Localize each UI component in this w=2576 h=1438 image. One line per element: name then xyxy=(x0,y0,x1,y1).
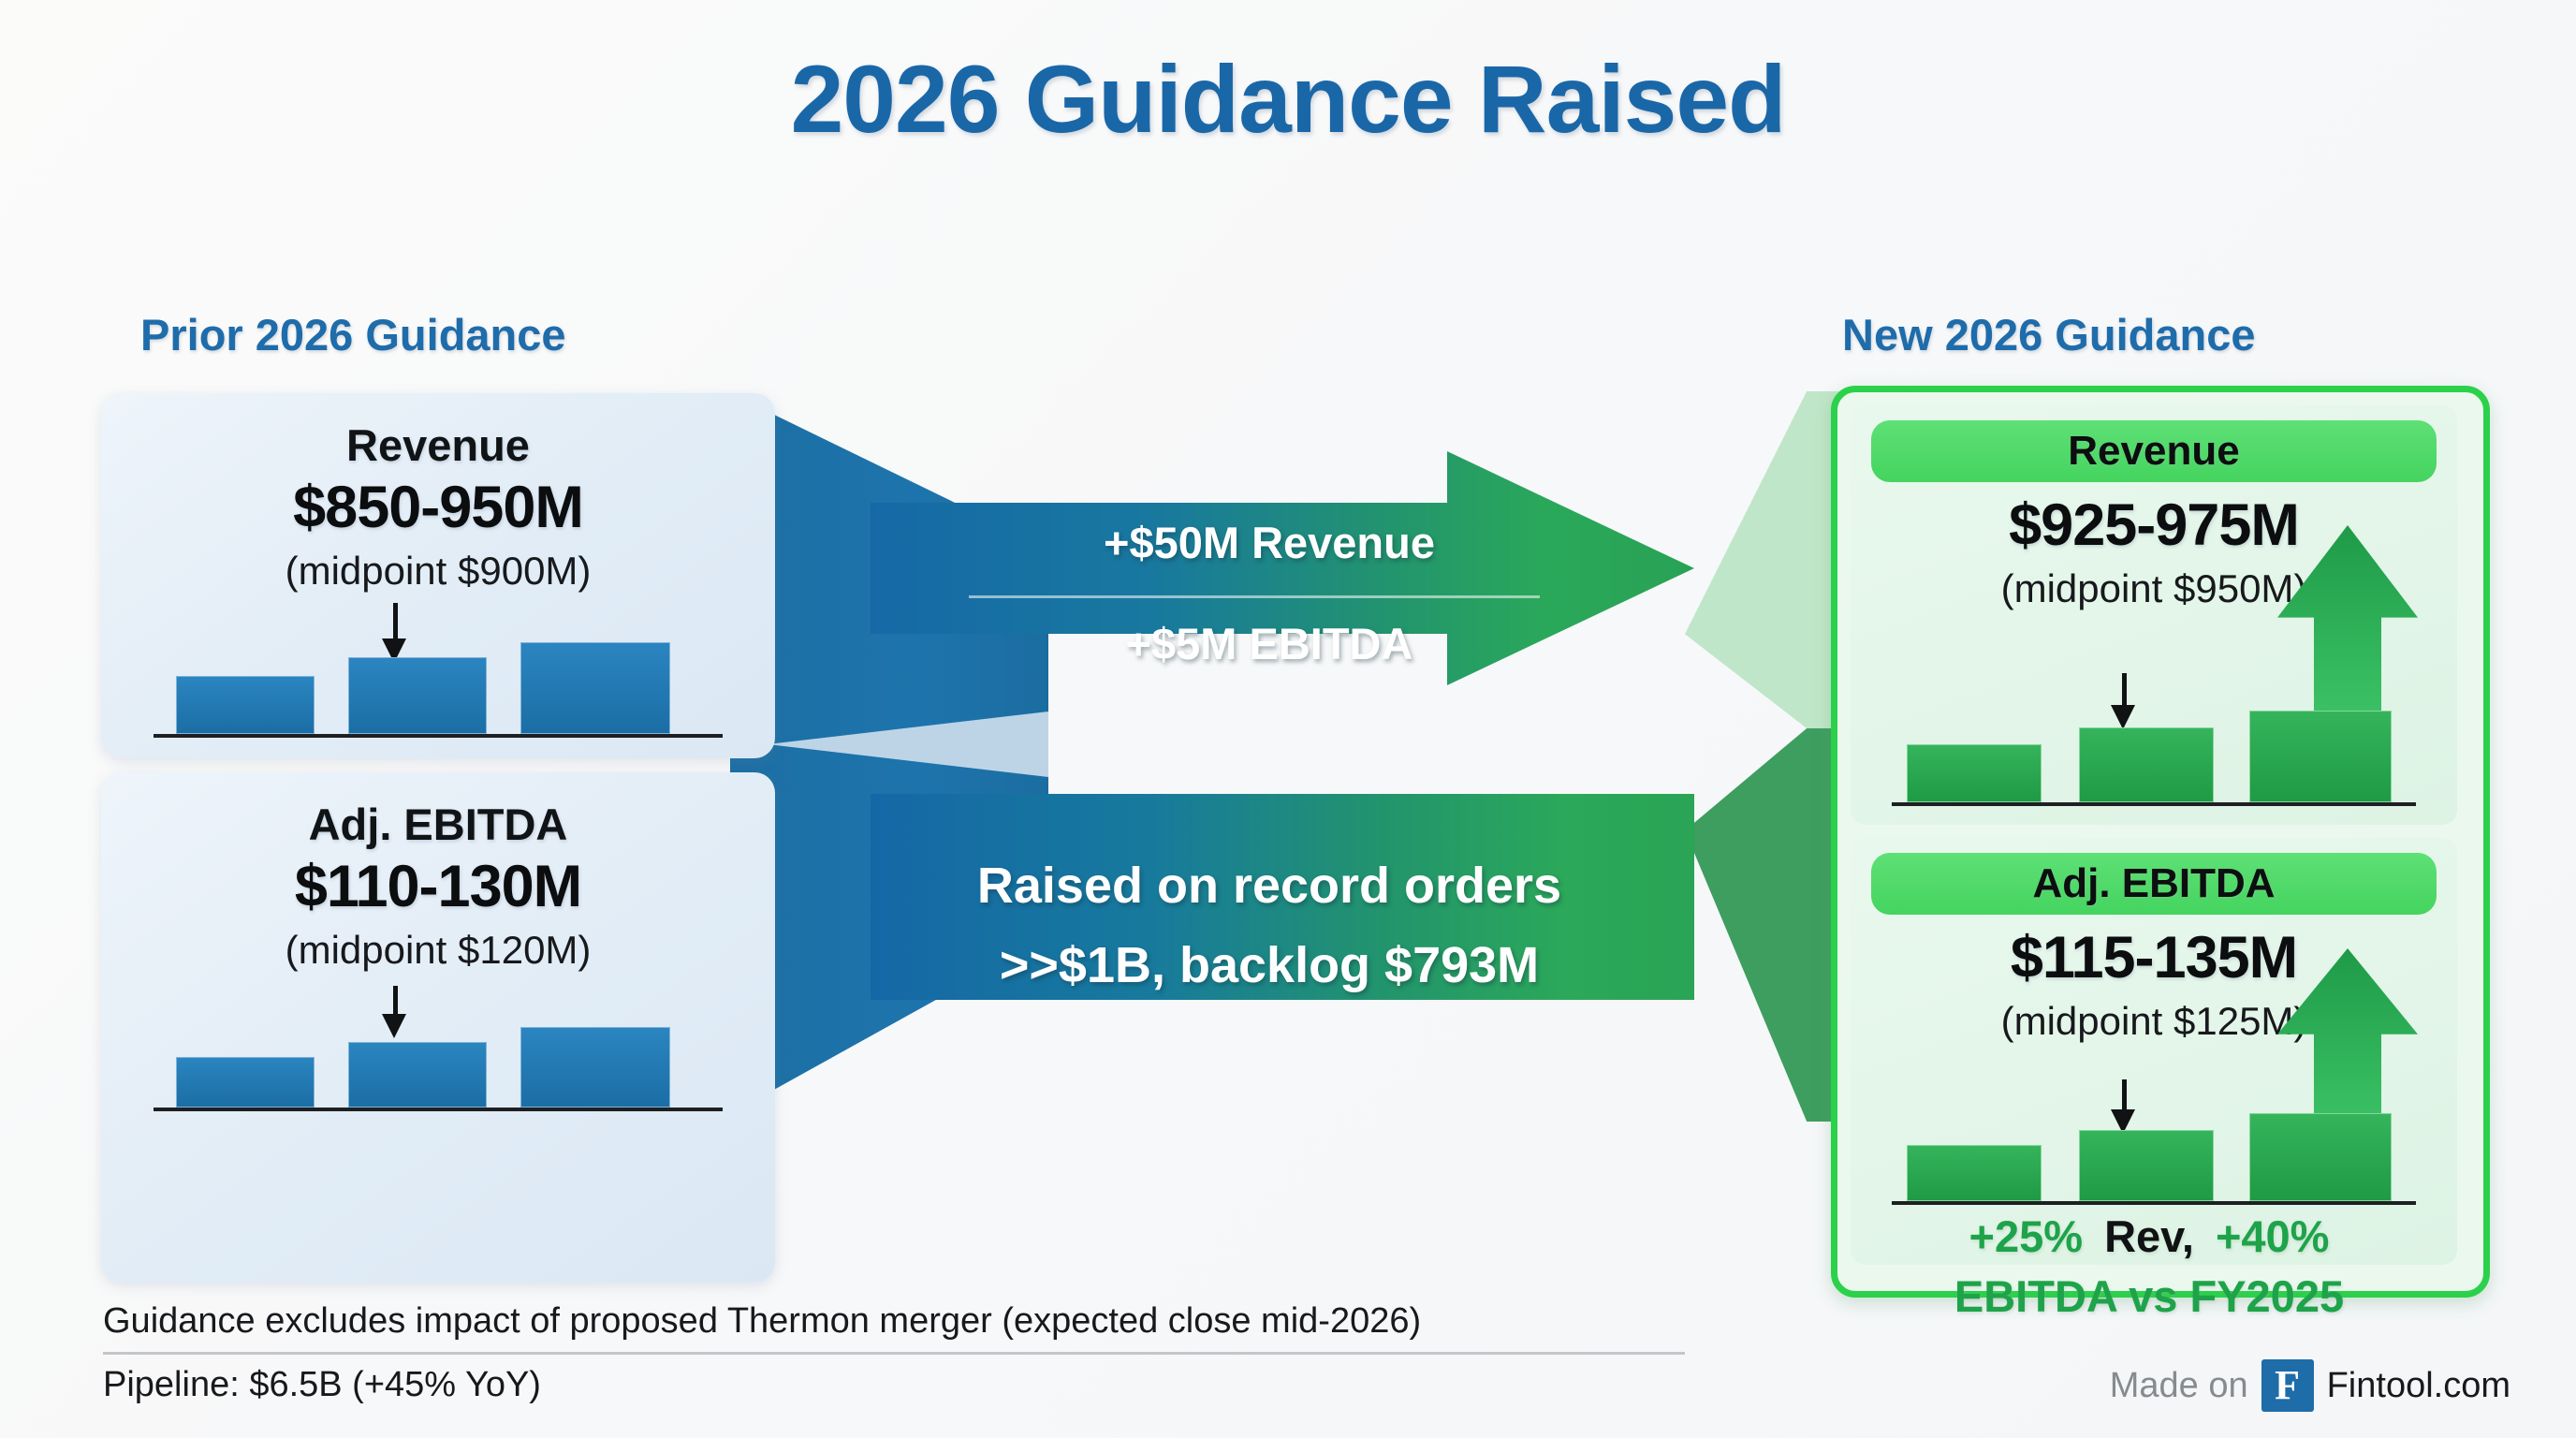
prior-revenue-card: Revenue $850-950M (midpoint $900M) xyxy=(101,393,775,758)
uplift-revenue-text: +$50M Revenue xyxy=(899,517,1640,568)
new-revenue-label: Revenue xyxy=(1871,420,2437,482)
prior-guidance-heading: Prior 2026 Guidance xyxy=(140,309,566,360)
brand-credit[interactable]: Made on F Fintool.com xyxy=(2110,1359,2510,1412)
prior-revenue-midpoint: (midpoint $900M) xyxy=(101,549,775,594)
prior-ebitda-midpoint: (midpoint $120M) xyxy=(101,928,775,973)
brand-name-label[interactable]: Fintool.com xyxy=(2327,1366,2510,1406)
new-ebitda-label: Adj. EBITDA xyxy=(1871,853,2437,915)
rationale-line-1: Raised on record orders xyxy=(899,857,1640,915)
brand-made-on-label: Made on xyxy=(2110,1366,2248,1406)
growth-summary-line-2: EBITDA vs FY2025 xyxy=(1851,1270,2457,1322)
new-revenue-mini-chart xyxy=(1892,696,2416,806)
new-revenue-value: $925-975M xyxy=(1851,492,2457,559)
prior-ebitda-value: $110-130M xyxy=(101,853,775,920)
footnote-pipeline: Pipeline: $6.5B (+45% YoY) xyxy=(103,1365,541,1405)
rationale-line-2: >>$1B, backlog $793M xyxy=(899,936,1640,994)
new-ebitda-mini-chart xyxy=(1892,1100,2416,1205)
prior-ebitda-mini-chart xyxy=(154,1006,723,1111)
new-guidance-card: Revenue $925-975M (midpoint $950M) Adj. … xyxy=(1831,386,2490,1298)
fintool-logo-icon: F xyxy=(2261,1359,2314,1412)
infographic-canvas: 2026 Guidance Raised Prior 2026 Guidance… xyxy=(0,0,2576,1438)
new-guidance-heading: New 2026 Guidance xyxy=(1842,309,2255,360)
page-title: 2026 Guidance Raised xyxy=(0,45,2576,154)
prior-ebitda-card: Adj. EBITDA $110-130M (midpoint $120M) xyxy=(101,772,775,1283)
new-ebitda-panel: Adj. EBITDA $115-135M (midpoint $125M) +… xyxy=(1851,838,2457,1265)
prior-ebitda-label: Adj. EBITDA xyxy=(101,799,775,850)
footnote-merger: Guidance excludes impact of proposed The… xyxy=(103,1301,1421,1342)
growth-rev-pct: +25% xyxy=(1969,1211,2084,1261)
prior-revenue-value: $850-950M xyxy=(101,474,775,541)
uplift-ebitda-text: +$5M EBITDA xyxy=(899,618,1640,669)
growth-ebitda-pct: +40% xyxy=(2216,1211,2330,1261)
new-revenue-panel: Revenue $925-975M (midpoint $950M) xyxy=(1851,405,2457,825)
growth-summary-line-1: +25% Rev, +40% xyxy=(1851,1211,2457,1262)
growth-ebitda-word: EBITDA vs FY2025 xyxy=(1954,1271,2344,1321)
footnote-divider xyxy=(103,1352,1685,1355)
growth-rev-word: Rev, xyxy=(2104,1211,2194,1261)
prior-revenue-label: Revenue xyxy=(101,419,775,471)
prior-revenue-mini-chart xyxy=(154,627,723,738)
uplift-divider xyxy=(969,595,1540,598)
